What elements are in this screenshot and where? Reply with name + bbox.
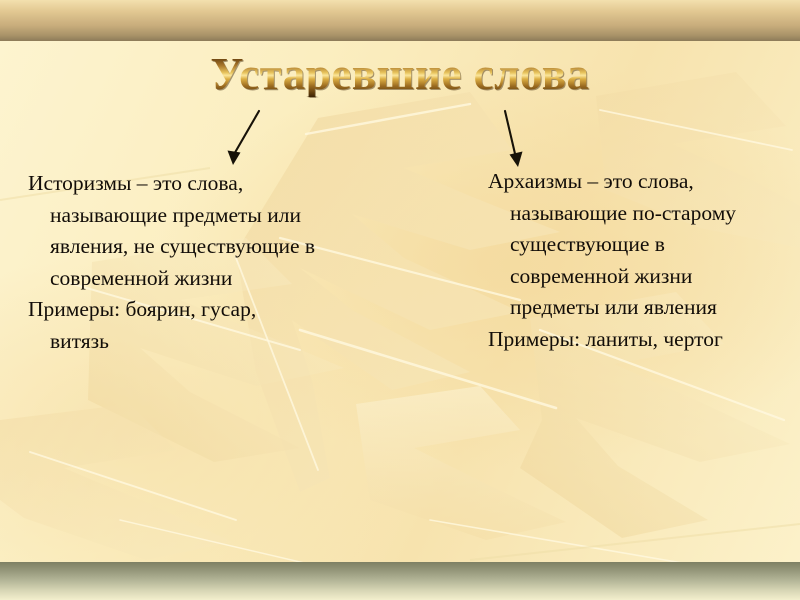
top-gradient-band <box>0 0 800 41</box>
arrow-down-right-icon <box>505 111 523 167</box>
page-title: Устаревшие слова <box>0 52 800 97</box>
right-text-column: Архаизмы – это слова, называющие по-стар… <box>488 166 778 355</box>
historisms-definition: Историзмы – это слова, называющие предме… <box>28 168 320 294</box>
arrow-down-left-icon <box>228 111 260 165</box>
left-text-column: Историзмы – это слова, называющие предме… <box>28 168 320 357</box>
archaisms-examples: Примеры: ланиты, чертог <box>488 324 778 356</box>
slide-canvas: Устаревшие слова Историзмы – это слова, … <box>0 0 800 600</box>
historisms-examples: Примеры: боярин, гусар, витязь <box>28 294 320 357</box>
bottom-gradient-band <box>0 562 800 600</box>
archaisms-definition: Архаизмы – это слова, называющие по-стар… <box>488 166 778 324</box>
